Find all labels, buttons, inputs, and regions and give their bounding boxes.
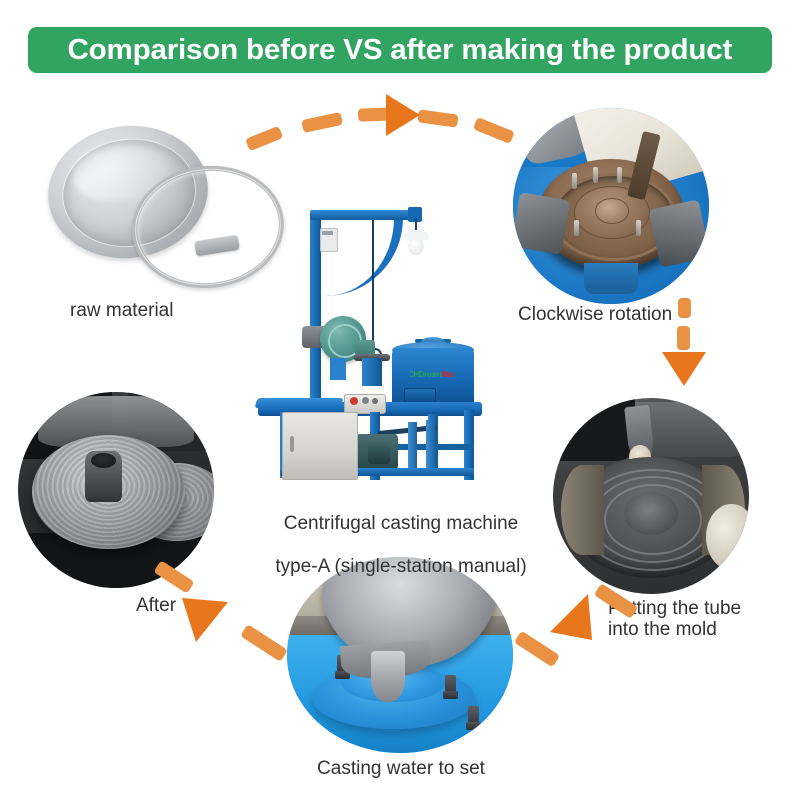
blower-stand (330, 358, 346, 380)
control-box-display (322, 231, 333, 235)
page-title: Comparison before VS after making the pr… (68, 34, 733, 67)
mold-bolt (468, 706, 479, 728)
mold-pin (572, 173, 577, 189)
arrow-raw-to-rotation (240, 90, 540, 200)
brand-logo-red-text: Mac (442, 370, 454, 379)
after-photo (18, 392, 214, 588)
centrifugal-casting-machine-illustration: CHDreamMac (258, 196, 490, 484)
mold-pin (574, 220, 579, 236)
after-photo-content (18, 392, 214, 588)
support-shaft (408, 422, 417, 470)
hoist-cable (372, 220, 374, 348)
clockwise-photo-content (513, 108, 709, 304)
caption-machine-line1: Centrifugal casting machine (236, 513, 566, 534)
control-button[interactable] (362, 397, 369, 404)
caption-raw-material: raw material (70, 300, 290, 321)
infographic-canvas: Comparison before VS after making the pr… (0, 0, 800, 800)
motor-face (368, 442, 390, 464)
caption-casting-water: Casting water to set (288, 758, 514, 779)
mold-pin (593, 167, 598, 183)
brand-logo-green-text: CHDream (410, 370, 442, 379)
mold-hub (595, 198, 628, 224)
crane-jib-arm (310, 210, 418, 220)
caption-machine-line2: type-A (single-station manual) (236, 556, 566, 577)
clamp-right (649, 199, 709, 267)
arrow-tube-to-casting (516, 588, 646, 684)
title-banner: Comparison before VS after making the pr… (28, 27, 772, 73)
brand-logo: CHDreamMac (410, 368, 454, 380)
support-shaft (426, 420, 435, 470)
clockwise-rotation-photo (513, 108, 709, 304)
lamp-bulb (408, 238, 424, 255)
mold-bolt (445, 675, 456, 697)
spindle-riser (362, 358, 382, 386)
mold-pin (617, 167, 622, 183)
mold-rim-left (561, 465, 604, 555)
putting-tube-photo (553, 398, 749, 594)
clamp-left (513, 192, 570, 255)
dark-block (553, 398, 635, 461)
arrow-rotation-to-tube (648, 312, 718, 404)
molten-pour-stream (371, 651, 405, 702)
cabinet-handle (290, 436, 294, 452)
emergency-stop-button[interactable] (350, 397, 358, 405)
tube-photo-content (553, 398, 749, 594)
mold-pin (636, 220, 641, 236)
machine-base (584, 263, 639, 294)
arrow-casting-to-after (158, 576, 308, 686)
control-button[interactable] (372, 398, 378, 404)
